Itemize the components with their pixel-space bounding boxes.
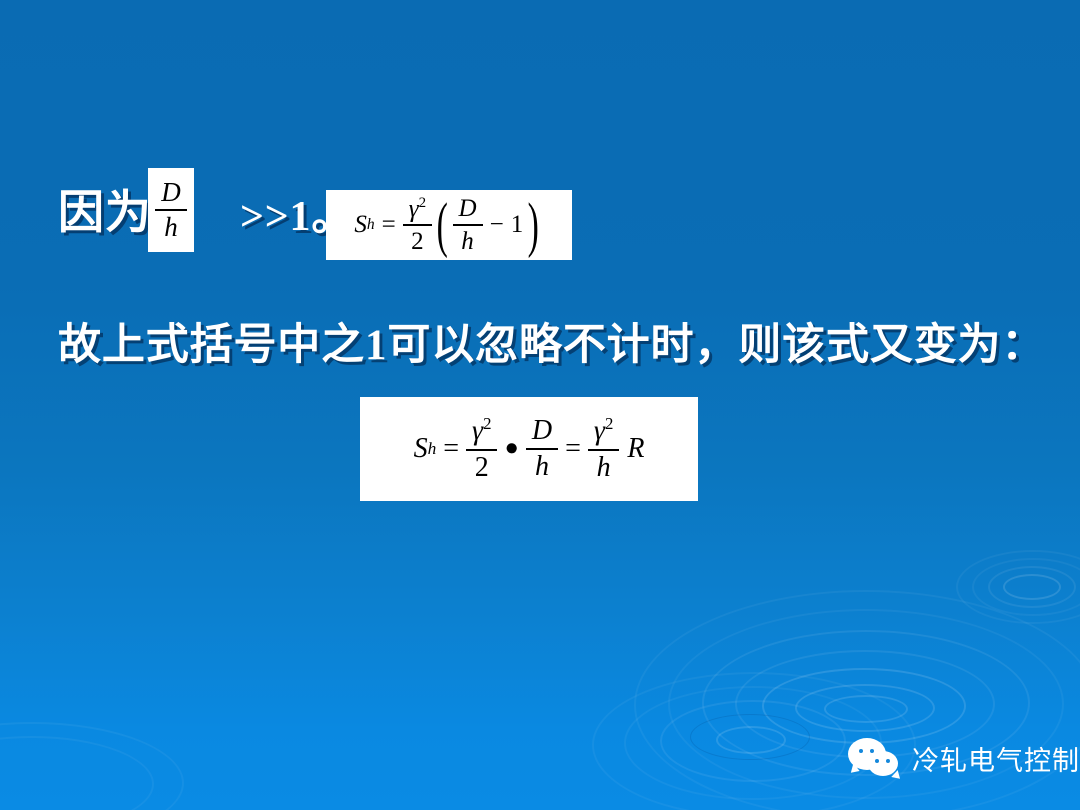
fraction-numerator: D	[155, 178, 187, 207]
formula2-frac2-denominator: h	[529, 452, 555, 482]
fraction-box-d-over-h: D h	[148, 168, 194, 252]
formula2-lhs-subscript: h	[428, 439, 437, 459]
wechat-eye	[859, 749, 863, 753]
formula1-one: 1	[511, 211, 524, 239]
ripple-ring	[690, 714, 810, 760]
formula1-coef-denominator: 2	[405, 228, 430, 255]
formula1-paren-close: )	[528, 199, 539, 252]
formula1-inner-numerator: D	[453, 195, 483, 222]
formula2-frac3-numerator: γ	[594, 416, 605, 447]
formula2-trailing-symbol: R	[619, 433, 644, 465]
formula1-coef-exponent: 2	[419, 195, 427, 211]
fraction-bar	[453, 224, 483, 226]
fraction-bar	[155, 209, 187, 211]
wechat-eye	[886, 759, 890, 763]
formula2-frac3-denominator: h	[591, 453, 617, 483]
formula2-frac3-exponent: 2	[605, 414, 613, 433]
ripple-ring	[956, 550, 1080, 624]
formula2-frac1-numerator: γ	[472, 416, 483, 447]
formula1-inner-denominator: h	[455, 228, 480, 255]
ripple-ring	[762, 668, 966, 744]
formula1-equals: =	[375, 211, 403, 239]
ripple-ring	[0, 736, 154, 810]
ripple-ring	[624, 686, 882, 800]
ripple-ring	[660, 700, 846, 782]
wechat-bubble-small	[868, 751, 898, 776]
ripple-ring	[0, 722, 184, 810]
ripple-ring	[824, 695, 908, 723]
wechat-icon	[848, 738, 900, 778]
formula1-lhs-subscript: h	[367, 216, 375, 234]
ripple-ring	[795, 684, 935, 732]
formula1-coef-numerator: γ	[409, 195, 419, 222]
fraction-bar	[466, 449, 497, 451]
line2-statement-text: 故上式括号中之1可以忽略不计时，则该式又变为：	[58, 310, 1045, 372]
fraction-bar	[403, 224, 432, 226]
formula2-equals-2: =	[558, 433, 588, 465]
formula1-minus: −	[483, 211, 511, 239]
formula2-frac1-denominator: 2	[469, 453, 495, 483]
slide-canvas: 因为 D h >>1。 Sh = γ2 2 ( D h − 1	[0, 0, 1080, 810]
formula2-lhs: S	[414, 433, 428, 465]
formula-box-sh-expanded: Sh = γ2 2 ( D h − 1 )	[326, 190, 572, 260]
fraction-bar	[588, 449, 619, 451]
formula2-multiply-dot: ●	[497, 435, 525, 462]
formula1-paren-open: (	[437, 199, 448, 252]
formula2-frac2-numerator: D	[526, 416, 558, 446]
ripple-ring	[972, 558, 1080, 616]
formula1-lhs: S	[354, 211, 367, 239]
ripple-ring	[1003, 574, 1061, 600]
formula-box-sh-simplified: Sh = γ2 2 ● D h = γ2 h R	[360, 397, 698, 501]
ripple-ring	[988, 566, 1076, 608]
line1-lead-text: 因为	[58, 176, 152, 242]
watermark-label: 冷轧电气控制	[912, 739, 1080, 778]
formula2-frac1-exponent: 2	[483, 414, 491, 433]
formula2-equals-1: =	[436, 433, 466, 465]
ripple-ring	[716, 726, 786, 754]
fraction-denominator: h	[158, 213, 184, 242]
fraction-bar	[526, 448, 558, 450]
wechat-watermark: 冷轧电气控制	[848, 738, 1080, 778]
wechat-eye	[875, 759, 879, 763]
